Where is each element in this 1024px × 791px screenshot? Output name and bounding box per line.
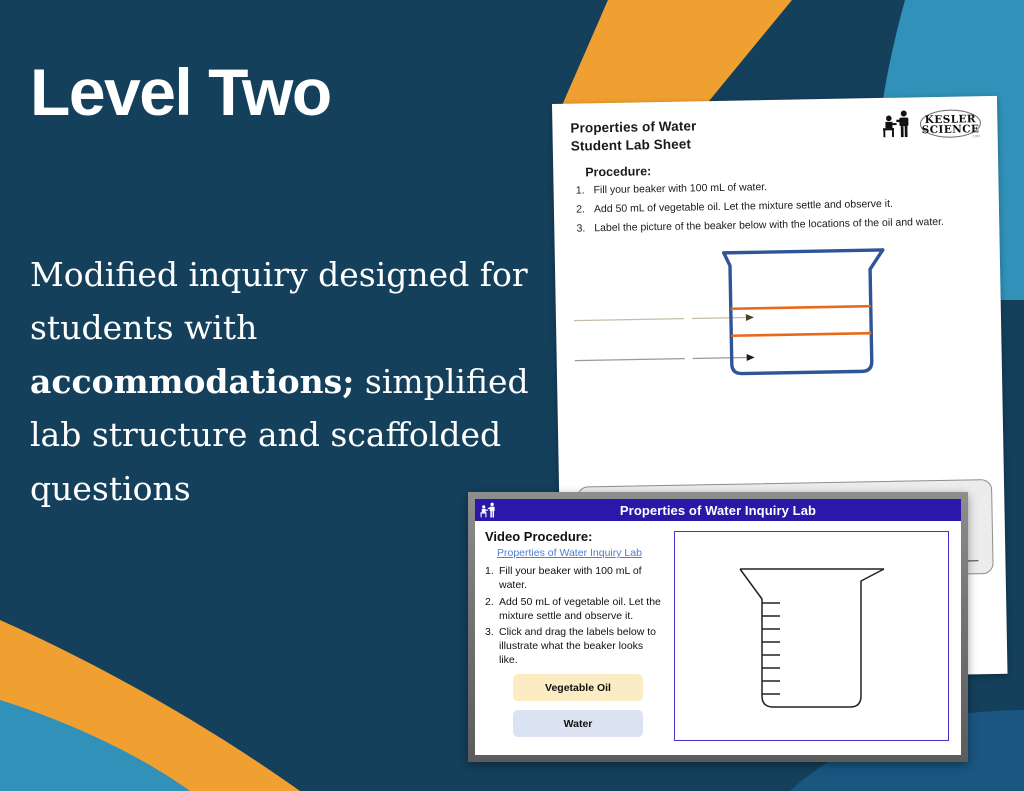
beaker-drop-canvas[interactable] [674,531,949,741]
list-item-text: Click and drag the labels below to illus… [499,626,664,668]
labeled-beaker-illustration [573,242,984,383]
body-text-part1: Modified inquiry designed for students w… [30,255,528,347]
video-procedure-heading: Video Procedure: [485,529,664,544]
kesler-science-wordmark: KESLER SCIENCE .COM [919,108,982,139]
list-item-number: 3. [485,626,499,668]
list-item-text: Label the picture of the beaker below wi… [594,214,981,237]
drag-label-vegetable-oil[interactable]: Vegetable Oil [513,674,643,701]
beaker-canvas-wrapper [670,529,951,749]
list-item: 3. Label the picture of the beaker below… [572,214,981,237]
list-item: 2. Add 50 mL of vegetable oil. Let the m… [485,596,664,624]
page-title: Level Two [30,58,331,127]
list-item-number: 2. [485,596,499,624]
drag-label-water[interactable]: Water [513,710,643,737]
beaker-outline [740,569,884,707]
teacher-student-icon [475,502,501,519]
beaker-diagram [573,242,984,383]
video-procedure-panel: Video Procedure: Properties of Water Inq… [485,529,670,749]
svg-text:.COM: .COM [972,134,980,138]
list-item: 1. Fill your beaker with 100 mL of water… [485,565,664,593]
oil-level-line [731,307,871,310]
list-item: 3. Click and drag the labels below to il… [485,626,664,668]
inquiry-lab-window-body: Properties of Water Inquiry Lab Video Pr… [475,499,961,755]
slide-body-text: Modified inquiry designed for students w… [30,248,540,515]
procedure-heading: Procedure: [585,158,980,179]
video-procedure-link[interactable]: Properties of Water Inquiry Lab [497,547,664,559]
list-item-text: Fill your beaker with 100 mL of water. [499,565,664,593]
video-procedure-list: 1. Fill your beaker with 100 mL of water… [485,565,664,668]
callout-line-water [575,359,685,361]
teacher-student-icon [880,109,915,140]
list-item-number: 3. [572,221,594,237]
list-item-number: 2. [572,202,594,218]
callout-line-water-b [693,358,747,359]
water-level-line [731,334,871,337]
window-title-bar[interactable]: Properties of Water Inquiry Lab [475,499,961,521]
empty-beaker-graphic [692,541,932,731]
inquiry-lab-window[interactable]: Properties of Water Inquiry Lab Video Pr… [468,492,968,762]
window-content: Video Procedure: Properties of Water Inq… [475,521,961,755]
list-item-text: Add 50 mL of vegetable oil. Let the mixt… [499,596,664,624]
list-item-number: 1. [485,565,499,593]
callout-line-oil [574,319,684,321]
callout-arrow-oil [746,314,754,321]
body-text-bold: accommodations; [30,362,354,401]
callout-line-oil-b [692,318,746,319]
beaker-rim [724,250,883,253]
window-title: Properties of Water Inquiry Lab [501,503,961,518]
procedure-list: 1. Fill your beaker with 100 mL of water… [571,176,981,237]
callout-arrow-water [747,354,755,361]
beaker-graduation-marks [762,603,780,694]
kesler-science-logo: KESLER SCIENCE .COM [880,108,982,140]
list-item-number: 1. [571,183,593,199]
